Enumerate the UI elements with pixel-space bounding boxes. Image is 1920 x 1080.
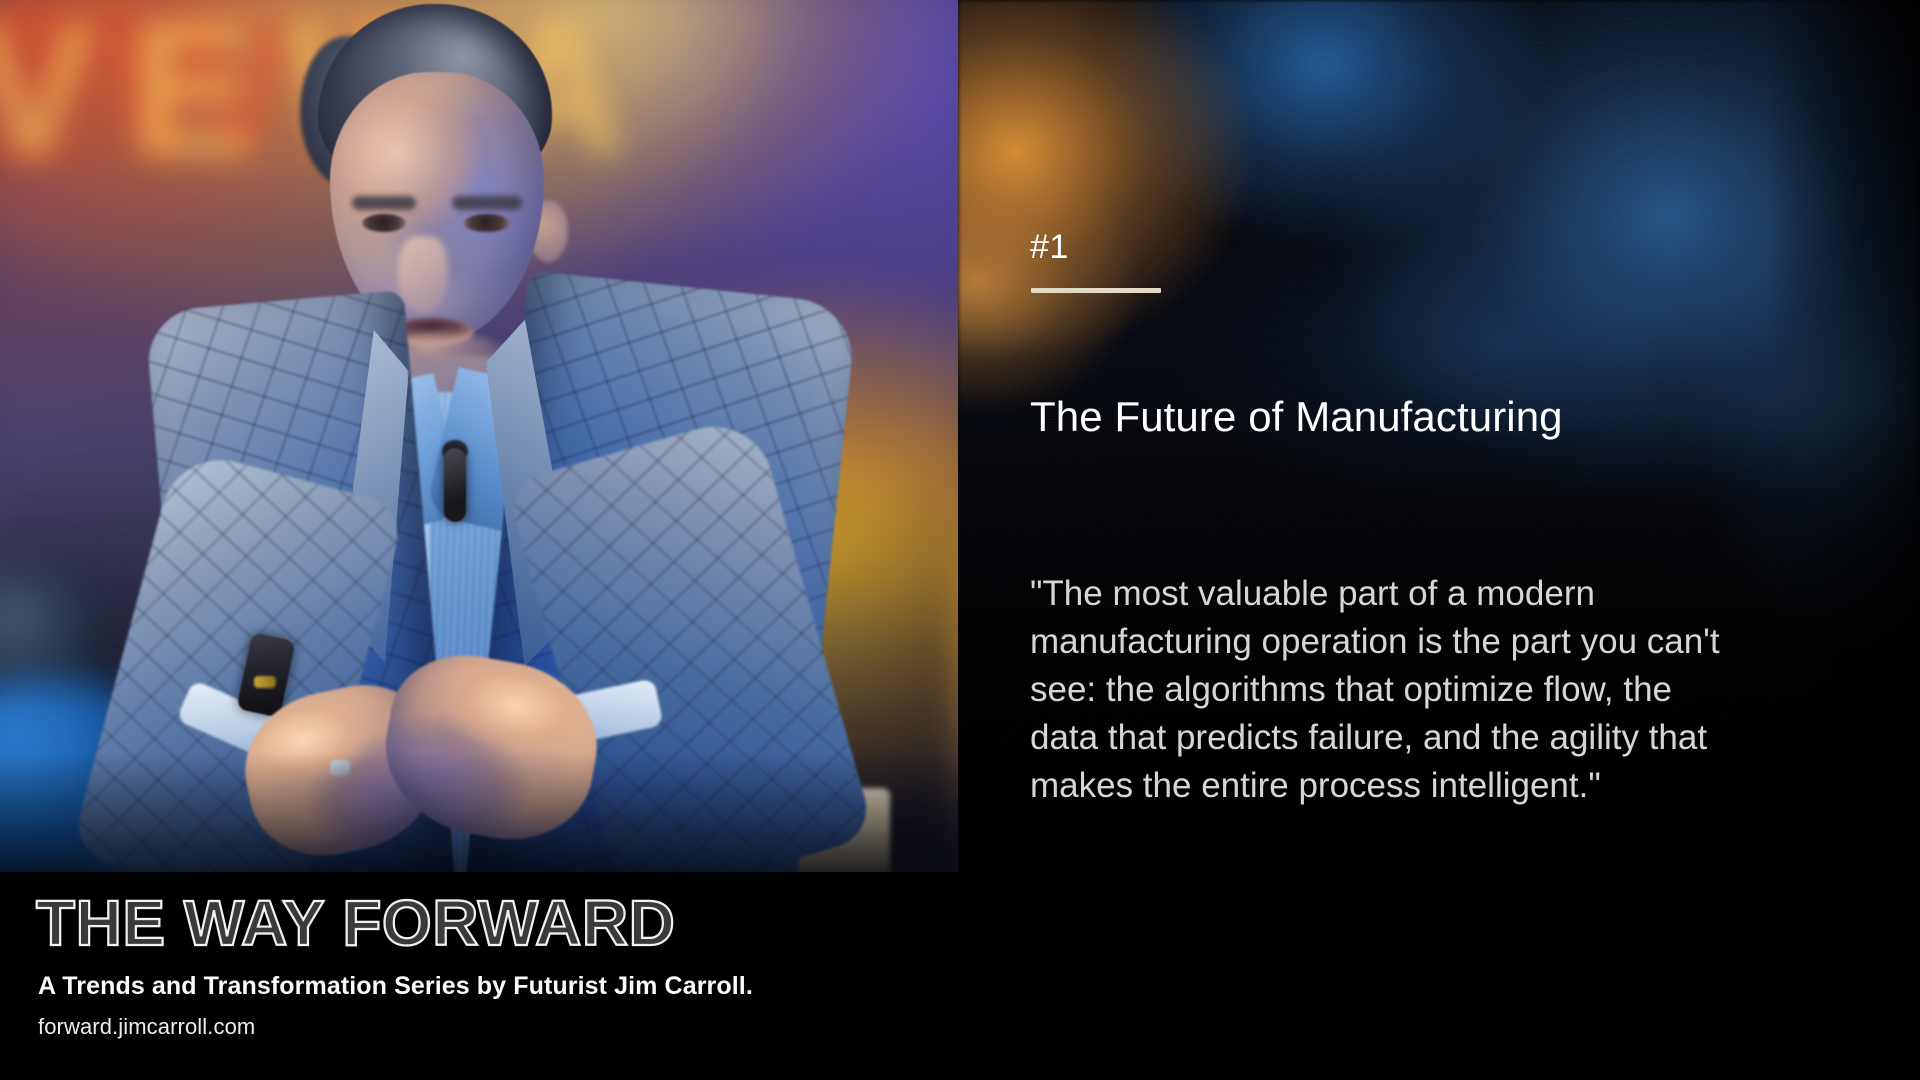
speaker-eye-right bbox=[464, 214, 510, 232]
speaker-photo: VEWA VEWA bbox=[0, 0, 958, 872]
photo-bottom-fade bbox=[0, 752, 958, 872]
series-title: THE WAY FORWARD bbox=[36, 888, 675, 958]
clicker-indicator bbox=[254, 676, 276, 688]
topic-title: The Future of Manufacturing bbox=[1030, 393, 1563, 441]
presentation-slide: VEWA VEWA bbox=[0, 0, 1920, 1080]
topic-quote: "The most valuable part of a modern manu… bbox=[1030, 570, 1730, 810]
lapel-microphone bbox=[444, 448, 466, 522]
speaker-brow-left bbox=[352, 196, 416, 210]
right-panel: #1 The Future of Manufacturing "The most… bbox=[958, 0, 1920, 1080]
series-footer: THE WAY FORWARD A Trends and Transformat… bbox=[0, 872, 958, 1080]
accent-rule bbox=[1031, 288, 1161, 293]
left-panel: VEWA VEWA bbox=[0, 0, 958, 1080]
series-url[interactable]: forward.jimcarroll.com bbox=[38, 1014, 255, 1040]
episode-badge: #1 bbox=[1030, 228, 1069, 267]
speaker-brow-right bbox=[452, 196, 522, 210]
series-subtitle: A Trends and Transformation Series by Fu… bbox=[38, 972, 753, 1001]
panel-content: #1 The Future of Manufacturing "The most… bbox=[1030, 0, 1820, 1080]
speaker-eye-left bbox=[362, 214, 406, 232]
speaker-nose bbox=[398, 236, 448, 314]
